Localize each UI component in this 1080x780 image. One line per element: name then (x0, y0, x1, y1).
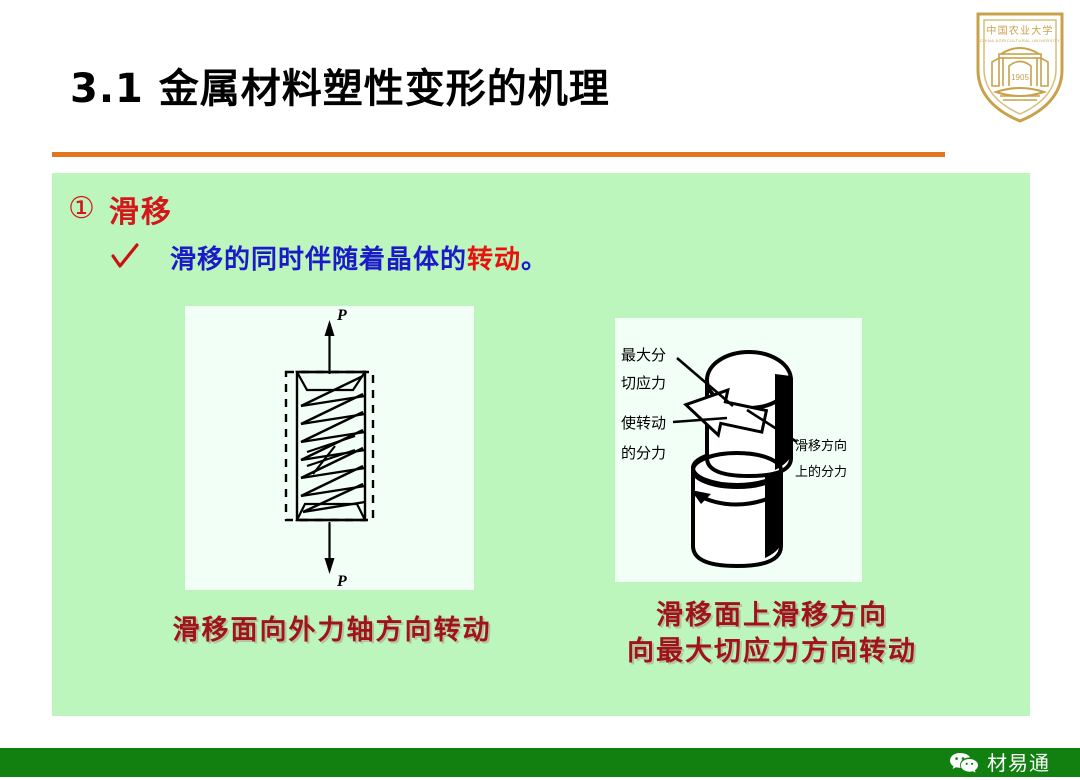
svg-text:1905: 1905 (1011, 73, 1029, 82)
label-rotation-force-1: 使转动 (621, 414, 666, 432)
wechat-icon (949, 751, 979, 775)
caption-left-figure: 滑移面向外力轴方向转动 (107, 608, 557, 647)
bullet-heading: ① 滑移 (68, 187, 173, 231)
university-logo: 中国农业大学 CHINA AGRICULTURAL UNIVERSITY 190… (970, 8, 1070, 126)
footer-brand: 材易通 (949, 749, 1050, 777)
svg-text:中国农业大学: 中国农业大学 (986, 24, 1053, 37)
title-divider (52, 152, 945, 157)
label-slip-direction-1: 滑移方向 (795, 438, 847, 454)
bullet-heading-label: 滑移 (109, 187, 173, 231)
caption-right-line2: 向最大切应力方向转动 (572, 634, 972, 670)
cylinder-resolved-shear-stress-diagram: 最大分 切应力 使转动 的分力 滑移方向 上的分力 (615, 318, 862, 582)
caption-right-line1: 滑移面上滑移方向 (572, 598, 972, 634)
label-max-resolved-1: 最大分 (621, 346, 666, 364)
footer-bar (0, 748, 1080, 777)
content-panel: ① 滑移 滑移的同时伴随着晶体的转动。 (52, 173, 1030, 716)
svg-text:P: P (336, 573, 347, 590)
check-icon (110, 243, 140, 271)
bullet-marker: ① (68, 194, 95, 224)
page-title: 3.1 金属材料塑性变形的机理 (70, 56, 610, 114)
svg-text:CHINA AGRICULTURAL UNIVERSITY: CHINA AGRICULTURAL UNIVERSITY (980, 38, 1060, 43)
footer-brand-text: 材易通 (987, 753, 1050, 773)
label-slip-direction-2: 上的分力 (795, 464, 847, 480)
label-rotation-force-2: 的分力 (621, 444, 666, 462)
sub-bullet: 滑移的同时伴随着晶体的转动。 (110, 239, 548, 276)
caption-right-figure: 滑移面上滑移方向 向最大切应力方向转动 (572, 598, 972, 671)
sub-bullet-text: 滑移的同时伴随着晶体的转动。 (170, 239, 548, 276)
slide-header: 3.1 金属材料塑性变形的机理 中国农业大学 CHINA AGRICULTURA… (0, 0, 1080, 152)
sub-bullet-text-before: 滑移的同时伴随着晶体的 (170, 245, 467, 275)
sub-bullet-text-highlight: 转动 (467, 245, 521, 275)
sub-bullet-text-after: 。 (521, 245, 548, 275)
svg-text:P: P (336, 307, 347, 324)
crystal-slip-rotation-diagram: P P (185, 306, 474, 590)
label-max-resolved-2: 切应力 (621, 374, 666, 392)
